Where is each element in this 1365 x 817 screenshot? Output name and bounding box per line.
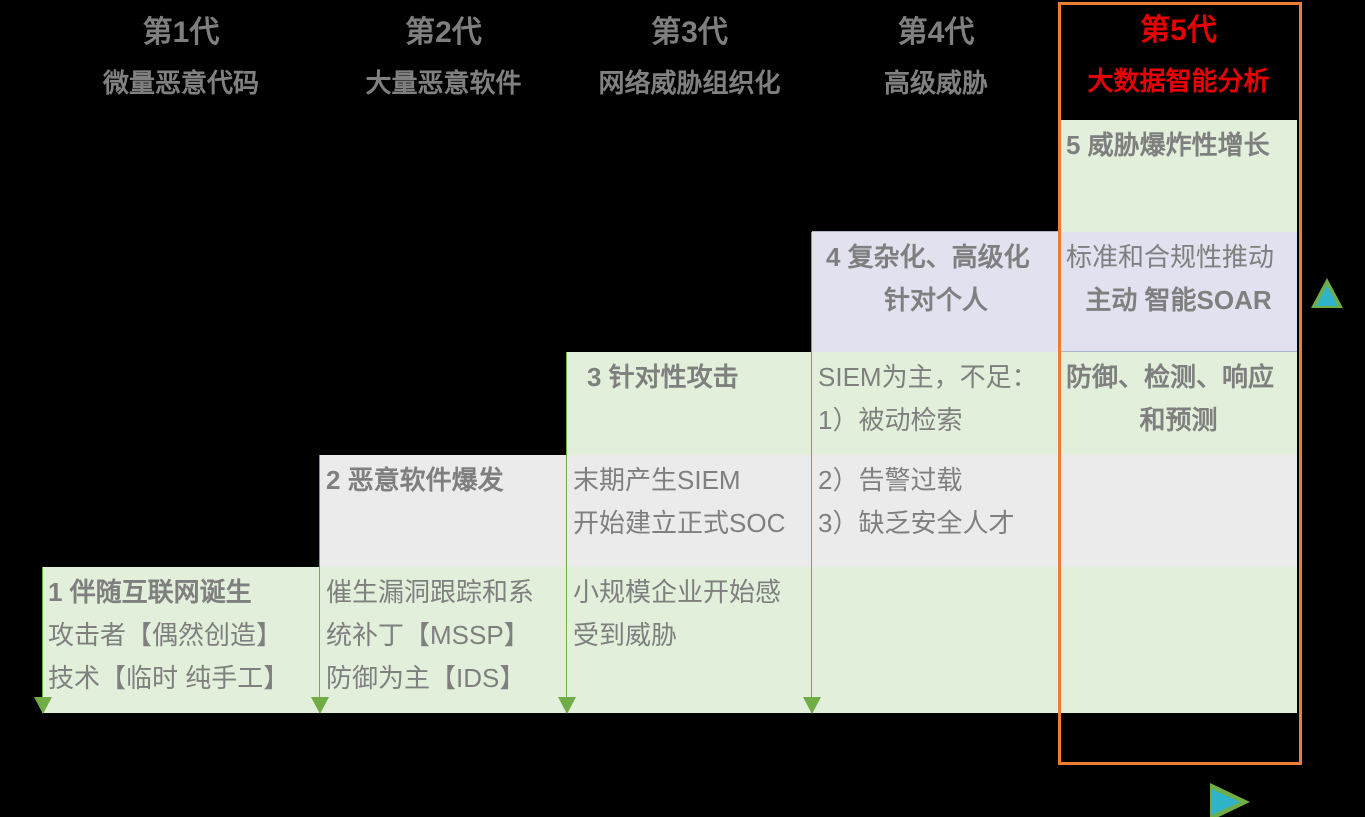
cell-line: 小规模企业开始感 — [573, 571, 806, 614]
growth-up-arrow — [1311, 278, 1343, 308]
cell-line: 4 复杂化、高级化 — [818, 236, 1054, 279]
forward-arrow — [1210, 783, 1250, 817]
step-down-arrow-2 — [311, 697, 329, 714]
cell-line: SIEM为主，不足： — [818, 356, 1054, 399]
cell-gen5-block2: 标准和合规性推动 主动 智能SOAR — [1060, 232, 1297, 352]
gen-subtitle: 高级威胁 — [812, 69, 1060, 98]
cell-gen4-block3: 2）告警过载 3）缺乏安全人才 — [812, 455, 1060, 567]
cell-gen5-block5 — [1060, 567, 1297, 713]
gen-subtitle: 网络威胁组织化 — [567, 69, 812, 98]
cell-line: 技术【临时 纯手工】 — [48, 657, 314, 700]
step-down-arrow-4 — [803, 697, 821, 714]
column-divider-1 — [42, 567, 43, 713]
column-divider-4 — [811, 232, 812, 713]
cell-gen4-block4 — [812, 567, 1060, 713]
gen-label: 第5代 — [1060, 14, 1297, 47]
gen-label: 第1代 — [42, 16, 320, 49]
step-down-arrow-3 — [558, 697, 576, 714]
cell-gen2-block1: 2 恶意软件爆发 — [320, 455, 567, 567]
cell-line: 防御为主【IDS】 — [326, 657, 561, 700]
cell-line: 攻击者【偶然创造】 — [48, 614, 314, 657]
cell-line: 开始建立正式SOC — [573, 502, 806, 545]
column-header-gen5: 第5代 大数据智能分析 — [1060, 14, 1297, 96]
cell-line: 和预测 — [1066, 399, 1291, 442]
cell-line: 1 伴随互联网诞生 — [48, 571, 314, 614]
column-header-gen3: 第3代 网络威胁组织化 — [567, 16, 812, 98]
row-divider-gen4-top — [812, 231, 1060, 232]
gen-label: 第3代 — [567, 16, 812, 49]
column-header-gen2: 第2代 大量恶意软件 — [320, 16, 567, 98]
cell-line: 主动 智能SOAR — [1066, 279, 1291, 322]
cell-gen4-block2: SIEM为主，不足： 1）被动检索 — [812, 352, 1060, 455]
cell-line: 末期产生SIEM — [573, 459, 806, 502]
column-divider-3 — [566, 352, 567, 713]
cell-gen1-block1: 1 伴随互联网诞生 攻击者【偶然创造】 技术【临时 纯手工】 — [42, 567, 320, 713]
cell-line: 催生漏洞跟踪和系 — [326, 571, 561, 614]
step-down-arrow-1 — [34, 697, 52, 714]
cell-line: 2）告警过载 — [818, 459, 1054, 502]
column-header-gen4: 第4代 高级威胁 — [812, 16, 1060, 98]
gen-subtitle: 大量恶意软件 — [320, 69, 567, 98]
gen-label: 第4代 — [812, 16, 1060, 49]
column-divider-2 — [319, 455, 320, 713]
cell-gen4-block1: 4 复杂化、高级化 针对个人 — [812, 232, 1060, 352]
cell-line: 2 恶意软件爆发 — [326, 459, 561, 502]
column-divider-5 — [1059, 120, 1060, 713]
cell-gen3-block3: 小规模企业开始感 受到威胁 — [567, 567, 812, 713]
cell-gen3-block1: 3 针对性攻击 — [567, 352, 812, 455]
cell-line: 防御、检测、响应 — [1066, 356, 1291, 399]
cell-line: 1）被动检索 — [818, 399, 1054, 442]
gen-subtitle: 微量恶意代码 — [42, 69, 320, 98]
cell-gen2-block2: 催生漏洞跟踪和系 统补丁【MSSP】 防御为主【IDS】 — [320, 567, 567, 713]
cell-line: 统补丁【MSSP】 — [326, 614, 561, 657]
cell-gen5-block3: 防御、检测、响应 和预测 — [1060, 352, 1297, 455]
cell-line: 针对个人 — [818, 279, 1054, 322]
row-divider-gen5-lav-bottom — [1060, 351, 1297, 352]
cell-line: 受到威胁 — [573, 614, 806, 657]
cell-line: 标准和合规性推动 — [1066, 236, 1291, 279]
gen-subtitle: 大数据智能分析 — [1060, 67, 1297, 96]
cell-line: 3）缺乏安全人才 — [818, 502, 1054, 545]
cell-gen3-block2: 末期产生SIEM 开始建立正式SOC — [567, 455, 812, 567]
gen-label: 第2代 — [320, 16, 567, 49]
generation-evolution-diagram: 第1代 微量恶意代码 第2代 大量恶意软件 第3代 网络威胁组织化 第4代 高级… — [0, 0, 1365, 817]
cell-gen5-block1: 5 威胁爆炸性增长 — [1060, 120, 1297, 232]
cell-line: 5 威胁爆炸性增长 — [1066, 124, 1291, 167]
cell-gen5-block4 — [1060, 455, 1297, 567]
cell-line: 3 针对性攻击 — [573, 356, 806, 399]
column-header-gen1: 第1代 微量恶意代码 — [42, 16, 320, 98]
